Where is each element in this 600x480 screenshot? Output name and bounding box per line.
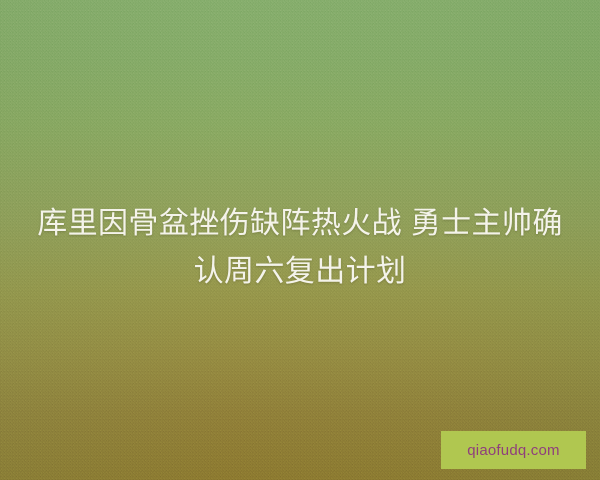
poster-image: 库里因骨盆挫伤缺阵热火战 勇士主帅确认周六复出计划 qiaofudq.com (0, 0, 600, 480)
headline-text: 库里因骨盆挫伤缺阵热火战 勇士主帅确认周六复出计划 (0, 200, 600, 296)
watermark-url-label: qiaofudq.com (467, 443, 559, 458)
watermark-badge: qiaofudq.com (441, 431, 586, 469)
